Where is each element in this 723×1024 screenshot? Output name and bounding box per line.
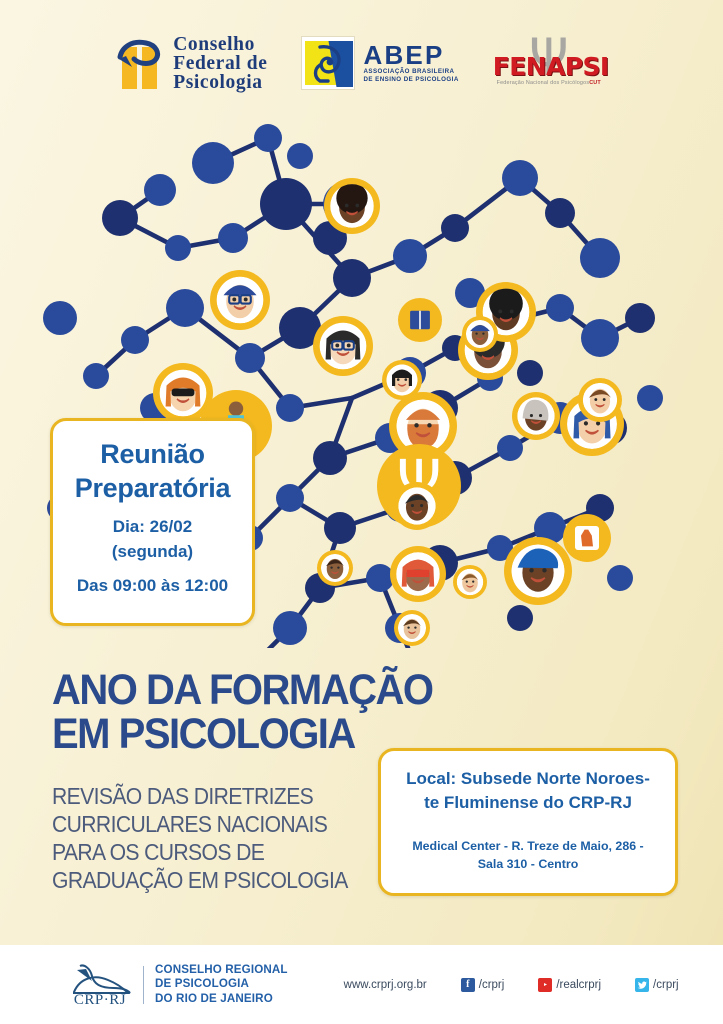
logo-conselho-federal-de-psicologia: Conselho Federal de Psicologia — [118, 35, 267, 92]
fenapsi-wordmark: FENAPSI — [493, 52, 605, 81]
logo-fenapsi: Ψ FENAPSI Federação Nacional dos Psicólo… — [493, 34, 605, 92]
meeting-time: Das 09:00 às 12:00 — [53, 573, 252, 598]
crp-rj-abbr: CRP·RJ — [66, 992, 134, 1009]
twitter-icon — [635, 978, 649, 992]
network-avatar — [313, 316, 373, 376]
network-dot — [441, 214, 469, 242]
abep-wordmark: ABEP ASSOCIAÇÃO BRASILEIRA DE ENSINO DE … — [363, 42, 458, 84]
partner-logo-bar: Conselho Federal de Psicologia ABEP ASSO… — [0, 22, 723, 104]
network-dot — [287, 143, 313, 169]
location-address-line-2: Sala 310 - Centro — [395, 855, 661, 873]
twitter-link[interactable]: /crprj — [635, 978, 679, 992]
network-avatar — [317, 550, 353, 586]
network-dot — [102, 200, 138, 236]
headline-line-1: ANO DA FORMAÇÃO — [52, 668, 424, 712]
network-dot — [497, 435, 523, 461]
network-dot — [254, 124, 282, 152]
meeting-info-box: Reunião Preparatória Dia: 26/02 (segunda… — [50, 418, 255, 626]
network-dot — [502, 160, 538, 196]
website-url[interactable]: www.crprj.org.br — [344, 979, 427, 991]
crp-line-1: CONSELHO REGIONAL — [155, 963, 288, 978]
network-dot — [192, 142, 234, 184]
network-dot — [121, 326, 149, 354]
abep-emblem-icon — [301, 36, 355, 90]
location-address-line-1: Medical Center - R. Treze de Maio, 286 - — [395, 837, 661, 855]
page-subtitle: REVISÃO DAS DIRETRIZES CURRICULARES NACI… — [52, 782, 402, 894]
network-avatar — [324, 178, 380, 234]
network-dot — [83, 363, 109, 389]
facebook-icon: f — [461, 978, 475, 992]
facebook-handle: /crprj — [479, 979, 505, 991]
network-avatar — [453, 565, 487, 599]
network-dot — [313, 441, 347, 475]
network-dot — [333, 259, 371, 297]
meeting-weekday: (segunda) — [53, 539, 252, 564]
network-avatar — [563, 514, 611, 562]
crp-line-3: DO RIO DE JANEIRO — [155, 992, 288, 1007]
network-dot — [273, 611, 307, 645]
network-avatar — [512, 392, 560, 440]
meeting-title-line-1: Reunião — [53, 437, 252, 471]
network-dot — [366, 564, 394, 592]
footer-divider — [143, 966, 144, 1004]
cfp-emblem-icon — [118, 37, 164, 89]
meeting-date: Dia: 26/02 — [53, 514, 252, 539]
network-dot — [144, 174, 176, 206]
abep-subtitle-1: ASSOCIAÇÃO BRASILEIRA — [363, 68, 458, 76]
facebook-link[interactable]: f /crprj — [461, 978, 505, 992]
network-dot — [637, 385, 663, 411]
network-avatar — [382, 360, 422, 400]
network-avatar — [462, 316, 498, 352]
subhead-line-2: CURRICULARES NACIONAIS — [52, 810, 367, 838]
abep-subtitle-2: DE ENSINO DE PSICOLOGIA — [363, 76, 458, 84]
network-dot — [607, 565, 633, 591]
crp-rj-wordmark: CONSELHO REGIONAL DE PSICOLOGIA DO RIO D… — [155, 963, 288, 1007]
subhead-line-4: GRADUAÇÃO EM PSICOLOGIA — [52, 866, 367, 894]
location-title-line-1: Local: Subsede Norte Noroes- — [395, 767, 661, 791]
logo-abep: ABEP ASSOCIAÇÃO BRASILEIRA DE ENSINO DE … — [301, 36, 458, 90]
youtube-link[interactable]: /realcrprj — [538, 978, 601, 992]
network-dot — [324, 512, 356, 544]
poster-canvas: Conselho Federal de Psicologia ABEP ASSO… — [0, 0, 723, 1024]
network-dot — [507, 605, 533, 631]
youtube-icon — [538, 978, 552, 992]
location-title-line-2: te Fluminense do CRP-RJ — [395, 791, 661, 815]
crp-line-2: DE PSICOLOGIA — [155, 977, 288, 992]
logo-crp-rj: CRP·RJ CONSELHO REGIONAL DE PSICOLOGIA D… — [66, 962, 288, 1008]
fenapsi-subtitle-text: Federação Nacional dos Psicólogos — [497, 80, 590, 86]
network-dot — [276, 484, 304, 512]
network-dot — [517, 360, 543, 386]
location-info-box: Local: Subsede Norte Noroes- te Fluminen… — [378, 748, 678, 896]
network-dot — [580, 238, 620, 278]
twitter-handle: /crprj — [653, 979, 679, 991]
cfp-line-1: Conselho — [173, 35, 267, 54]
meeting-title-line-2: Preparatória — [53, 471, 252, 505]
network-dot — [165, 235, 191, 261]
cfp-wordmark: Conselho Federal de Psicologia — [173, 35, 267, 92]
network-dot — [625, 303, 655, 333]
network-dot — [393, 239, 427, 273]
abep-acronym: ABEP — [363, 42, 458, 68]
network-avatar — [393, 482, 441, 530]
location-address: Medical Center - R. Treze de Maio, 286 -… — [395, 837, 661, 873]
subhead-line-1: REVISÃO DAS DIRETRIZES — [52, 782, 367, 810]
crp-rj-emblem-icon: CRP·RJ — [66, 962, 134, 1008]
network-avatar — [210, 270, 270, 330]
network-dot — [546, 294, 574, 322]
fenapsi-subtitle: Federação Nacional dos PsicólogosCUT — [493, 80, 605, 86]
network-dot — [43, 301, 77, 335]
network-dot — [235, 343, 265, 373]
subhead-line-3: PARA OS CURSOS DE — [52, 838, 367, 866]
network-dot — [276, 394, 304, 422]
headline-line-2: EM PSICOLOGIA — [52, 712, 424, 756]
page-title: ANO DA FORMAÇÃO EM PSICOLOGIA — [52, 668, 452, 756]
network-dot — [260, 178, 312, 230]
network-avatar — [504, 537, 572, 605]
network-avatar — [398, 298, 442, 342]
network-avatar — [578, 378, 622, 422]
footer-bar: CRP·RJ CONSELHO REGIONAL DE PSICOLOGIA D… — [0, 945, 723, 1024]
cfp-line-3: Psicologia — [173, 73, 267, 92]
youtube-handle: /realcrprj — [556, 979, 601, 991]
network-dot — [166, 289, 204, 327]
network-dot — [545, 198, 575, 228]
footer-social-links: www.crprj.org.br f /crprj /realcrprj /cr… — [344, 978, 679, 992]
network-dot — [218, 223, 248, 253]
network-avatar — [390, 546, 446, 602]
network-avatar — [394, 610, 430, 646]
cfp-line-2: Federal de — [173, 54, 267, 73]
network-dot — [581, 319, 619, 357]
fenapsi-subtitle-suffix: CUT — [589, 80, 601, 86]
